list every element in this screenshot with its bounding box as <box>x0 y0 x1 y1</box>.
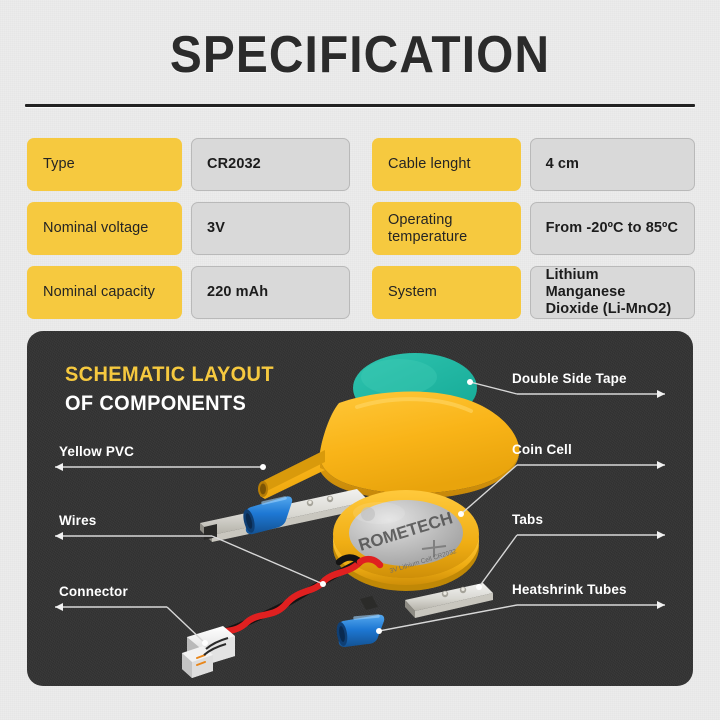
callout-label-tabs: Tabs <box>512 512 543 527</box>
spec-label: Operating temperature <box>372 202 521 255</box>
title-divider <box>25 104 695 107</box>
spec-label: Type <box>27 138 182 191</box>
specification-page: SPECIFICATION Type CR2032 Nominal voltag… <box>0 0 720 720</box>
callout-label-wires: Wires <box>59 513 96 528</box>
spec-row: Type CR2032 <box>27 138 350 191</box>
spec-row: System Lithium Manganese Dioxide (Li-MnO… <box>372 266 695 319</box>
spec-value: Lithium Manganese Dioxide (Li-MnO2) <box>530 266 695 319</box>
spec-column-left: Type CR2032 Nominal voltage 3V Nominal c… <box>27 138 350 319</box>
spec-label: System <box>372 266 521 319</box>
spec-label: Nominal voltage <box>27 202 182 255</box>
spec-row: Nominal voltage 3V <box>27 202 350 255</box>
callout-label-coin-cell: Coin Cell <box>512 442 572 457</box>
spec-column-right: Cable lenght 4 cm Operating temperature … <box>372 138 695 319</box>
callout-label-double-side-tape: Double Side Tape <box>512 371 627 386</box>
schematic-panel: SCHEMATIC LAYOUT OF COMPONENTS <box>27 331 693 686</box>
spec-row: Operating temperature From -20ºC to 85ºC <box>372 202 695 255</box>
spec-row: Cable lenght 4 cm <box>372 138 695 191</box>
page-title: SPECIFICATION <box>29 26 691 84</box>
spec-value: From -20ºC to 85ºC <box>530 202 695 255</box>
spec-value: 3V <box>191 202 350 255</box>
spec-label: Nominal capacity <box>27 266 182 319</box>
callout-label-heatshrink-tubes: Heatshrink Tubes <box>512 582 627 597</box>
spec-value: 220 mAh <box>191 266 350 319</box>
specification-table: Type CR2032 Nominal voltage 3V Nominal c… <box>27 138 695 319</box>
callout-label-connector: Connector <box>59 584 128 599</box>
spec-row: Nominal capacity 220 mAh <box>27 266 350 319</box>
callout-label-yellow-pvc: Yellow PVC <box>59 444 134 459</box>
spec-value: 4 cm <box>530 138 695 191</box>
spec-value: CR2032 <box>191 138 350 191</box>
spec-label: Cable lenght <box>372 138 521 191</box>
